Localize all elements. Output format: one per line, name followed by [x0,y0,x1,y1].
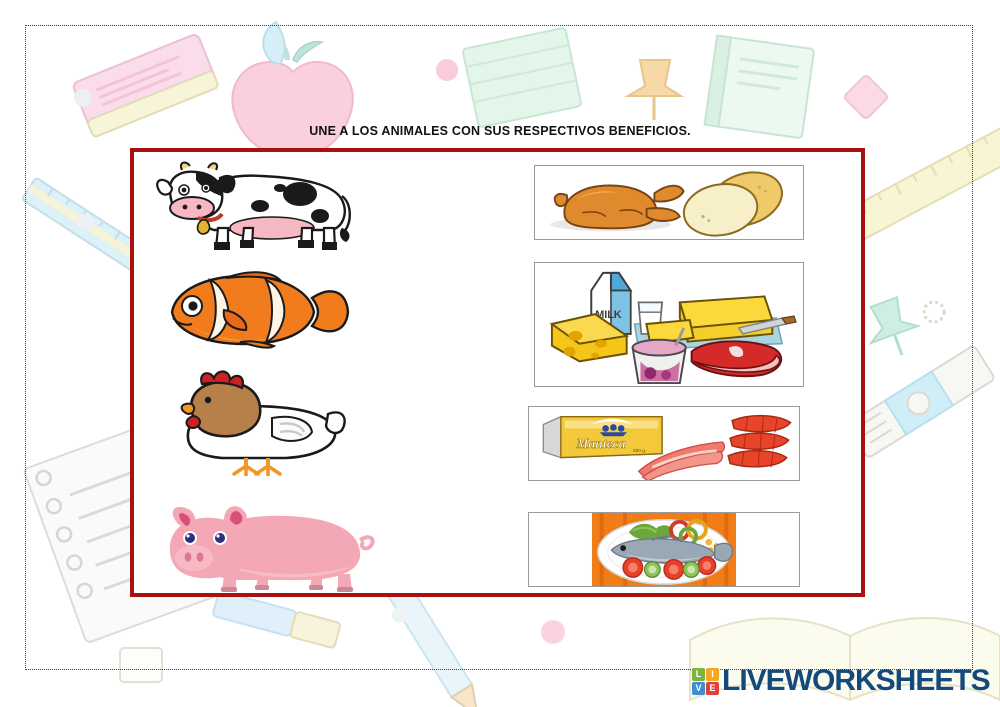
animal-image-cow[interactable] [152,160,362,255]
logo-text: LIVEWORKSHEETS [722,664,990,698]
logo-tile-icon: L I V E [692,668,719,695]
hen-icon [176,370,348,476]
fish-icon [162,268,352,350]
fish-dish-icon [529,513,799,586]
page-title: UNE A LOS ANIMALES CON SUS RESPECTIVOS B… [0,124,1000,138]
cow-icon [152,160,362,255]
chicken-eggs-icon [535,166,803,239]
benefit-box-lard-bacon[interactable]: Manteca 250 g. [528,406,800,481]
logo-tile-letter-1: I [706,668,719,681]
exercise-container: MILK [130,148,865,597]
worksheet-page: UNE A LOS ANIMALES CON SUS RESPECTIVOS B… [0,0,1000,707]
animal-image-fish[interactable] [162,268,352,350]
animal-image-hen[interactable] [176,370,348,476]
benefit-box-dairy[interactable]: MILK [534,262,804,387]
benefit-box-fish-dish[interactable] [528,512,800,587]
benefit-box-chicken-eggs[interactable] [534,165,804,240]
manteca-box-label: Manteca [575,436,625,451]
logo-tile-letter-3: E [706,682,719,695]
logo-tile-letter-2: V [692,682,705,695]
logo-tile-letter-0: L [692,668,705,681]
dairy-icon: MILK [535,263,803,386]
svg-text:250 g.: 250 g. [633,448,647,454]
pig-icon [162,500,387,596]
liveworksheets-logo[interactable]: L I V E LIVEWORKSHEETS [692,664,990,698]
animal-image-pig[interactable] [162,500,387,596]
lard-bacon-icon: Manteca 250 g. [529,407,799,480]
